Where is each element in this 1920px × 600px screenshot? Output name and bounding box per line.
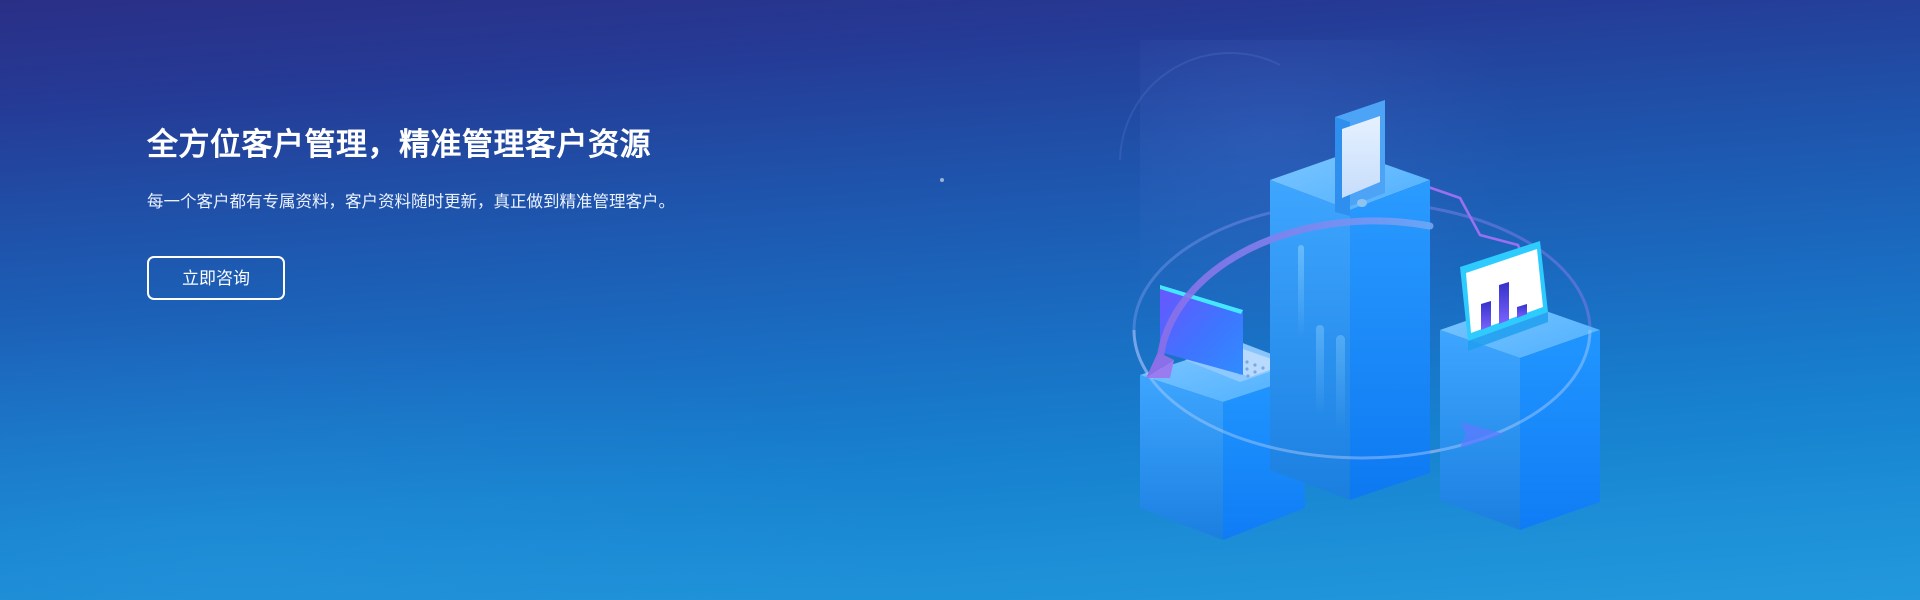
consult-now-button[interactable]: 立即咨询 — [147, 256, 285, 300]
background-glow-bottom — [0, 300, 1000, 600]
hero-copy: 全方位客户管理，精准管理客户资源 每一个客户都有专属资料，客户资料随时更新，真正… — [147, 126, 767, 300]
hero-subtitle: 每一个客户都有专属资料，客户资料随时更新，真正做到精准管理客户。 — [147, 189, 732, 215]
background-circle-accent — [1120, 53, 1280, 160]
sparkle-dot — [940, 178, 944, 182]
page-title: 全方位客户管理，精准管理客户资源 — [147, 126, 767, 163]
hero-illustration — [1100, 30, 1620, 570]
right-pedestal — [1440, 302, 1600, 530]
hero-banner: 全方位客户管理，精准管理客户资源 每一个客户都有专属资料，客户资料随时更新，真正… — [0, 0, 1920, 600]
